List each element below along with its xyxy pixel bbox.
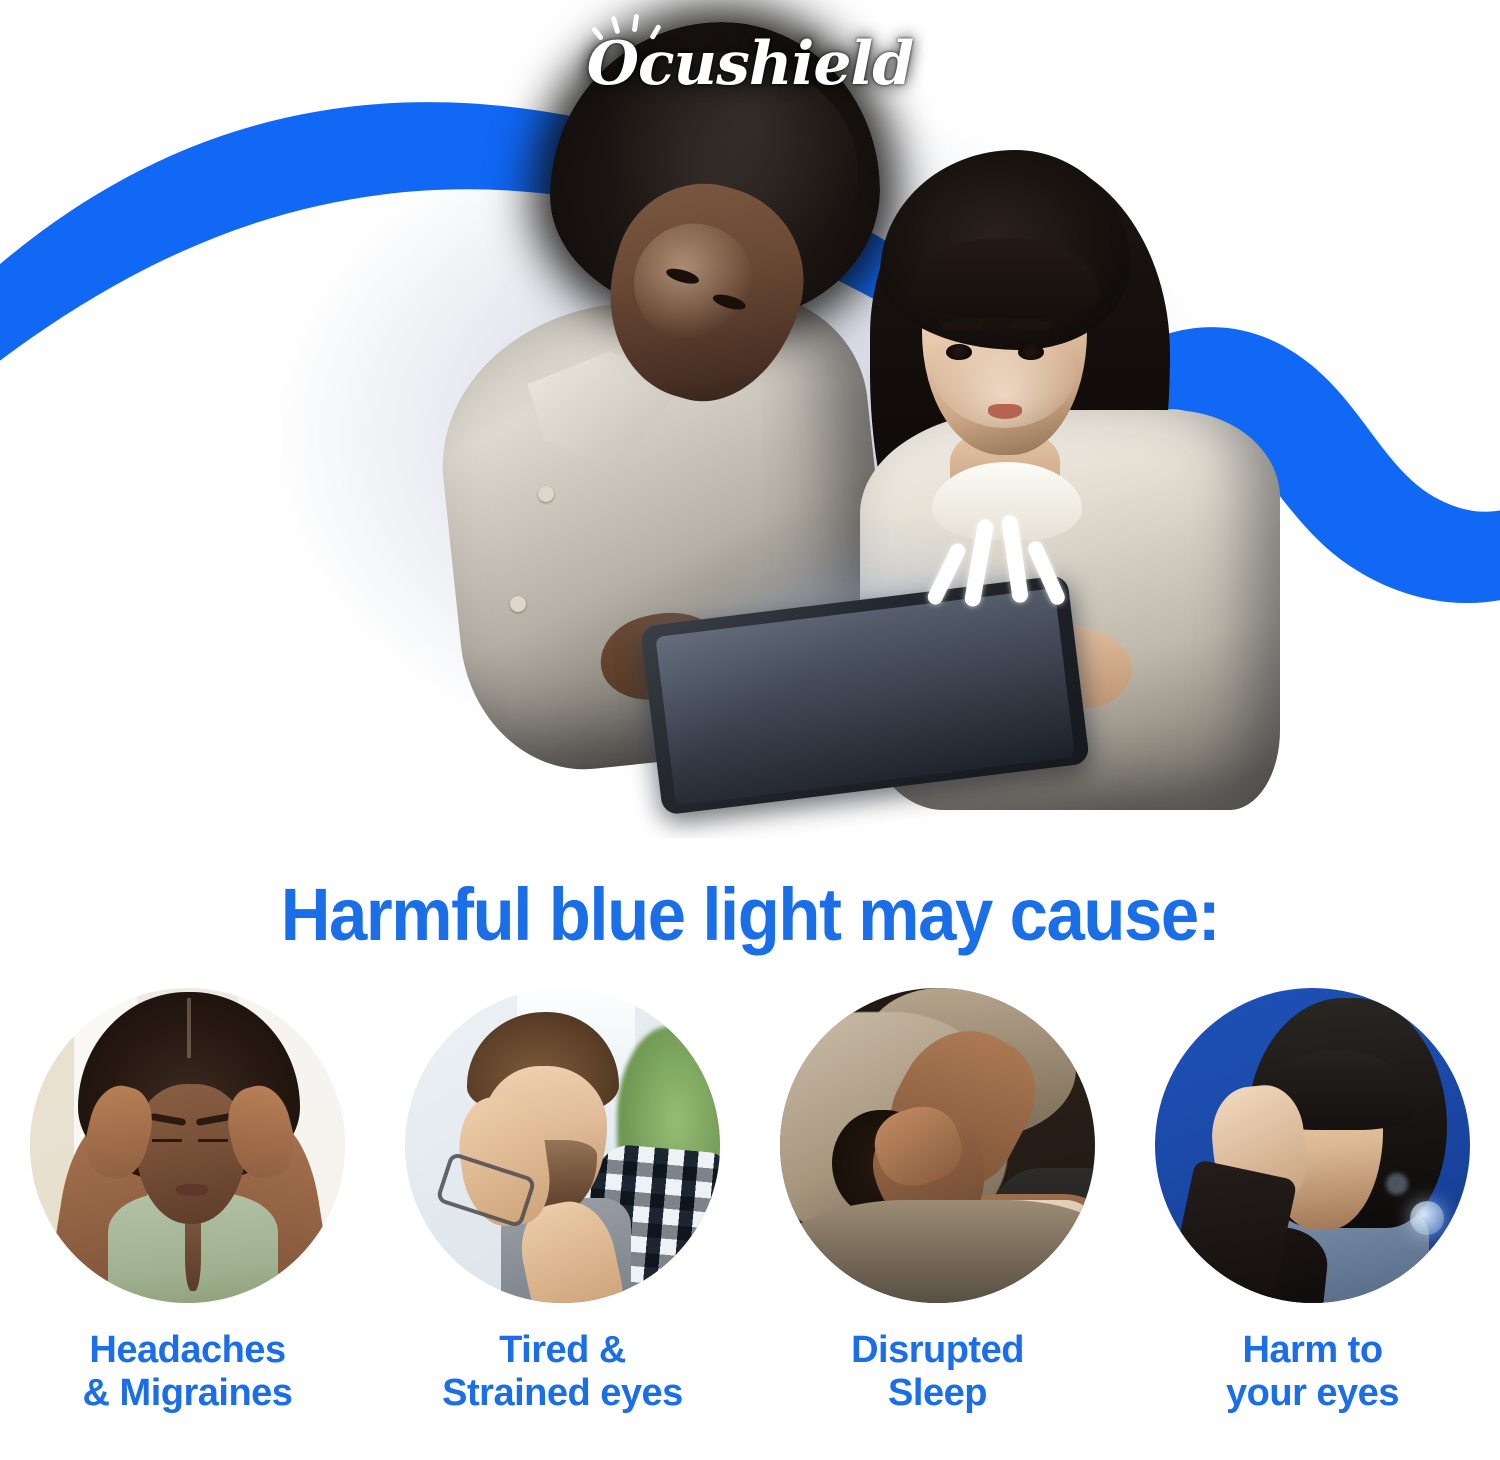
page-title: Harmful blue light may cause:: [53, 878, 1448, 952]
girl-eye-left: [946, 344, 972, 360]
woman-with-headache-image: [30, 988, 345, 1303]
symptom-card-list: Headaches & Migraines Tired & Strained e…: [0, 988, 1500, 1458]
symptom-label-line1: Tired &: [442, 1329, 683, 1372]
symptom-label-line2: your eyes: [1226, 1372, 1399, 1415]
jacket-button: [538, 486, 554, 502]
girl-brow-right: [1012, 322, 1052, 330]
symptom-label-line1: Harm to: [1226, 1329, 1399, 1372]
symptom-card-headaches[interactable]: Headaches & Migraines: [23, 988, 353, 1414]
jacket-button: [510, 596, 526, 612]
symptom-label-line1: Headaches: [83, 1329, 293, 1372]
girl-brow-left: [942, 322, 982, 330]
symptom-label-line2: Strained eyes: [442, 1372, 683, 1415]
symptom-card-tired-eyes[interactable]: Tired & Strained eyes: [398, 988, 728, 1414]
hero-banner: Ocushield ®: [0, 0, 1500, 838]
symptom-label-line1: Disrupted: [851, 1329, 1024, 1372]
symptom-card-label: Disrupted Sleep: [851, 1329, 1024, 1414]
hero-photo-scene: [180, 0, 1320, 838]
symptom-card-label: Headaches & Migraines: [83, 1329, 293, 1414]
symptom-label-line2: Sleep: [851, 1372, 1024, 1415]
symptom-card-disrupted-sleep[interactable]: Disrupted Sleep: [773, 988, 1103, 1414]
symptom-card-harm-to-eyes[interactable]: Harm to your eyes: [1148, 988, 1478, 1414]
blue-light-rays-icon: [935, 505, 1075, 610]
girl-mouth: [988, 404, 1022, 419]
symptom-card-label: Harm to your eyes: [1226, 1329, 1399, 1414]
woman-with-phone-at-night-image: [1155, 988, 1470, 1303]
woman-awake-in-bed-image: [780, 988, 1095, 1303]
man-rubbing-eyes-image: [405, 988, 720, 1303]
boy-eye-right: [711, 292, 747, 313]
symptom-card-label: Tired & Strained eyes: [442, 1329, 683, 1414]
symptom-label-line2: & Migraines: [83, 1372, 293, 1415]
boy-eye-left: [665, 266, 701, 287]
benefits-section: Harmful blue light may cause: Headaches …: [0, 838, 1500, 1460]
girl-eye-right: [1018, 344, 1044, 360]
